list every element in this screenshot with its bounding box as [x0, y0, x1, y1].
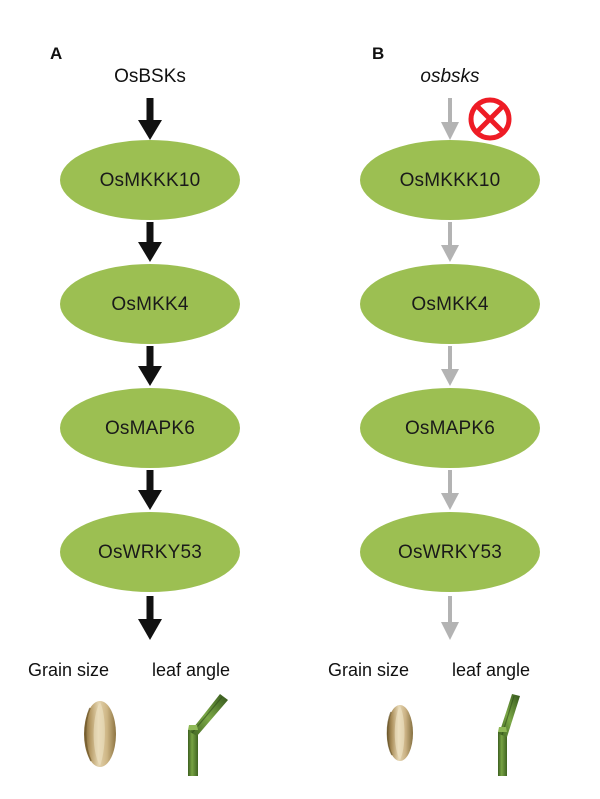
node-label: OsMKK4: [411, 295, 488, 314]
panel-b: B osbsks OsMKKK10 OsMKK4: [300, 0, 600, 799]
node-osmapk6-a: OsMAPK6: [60, 388, 240, 468]
node-osmkkk10-b: OsMKKK10: [360, 140, 540, 220]
node-oswrky53-b: OsWRKY53: [360, 512, 540, 592]
grain-seed-illustration-a: [66, 698, 134, 770]
panel-label-b: B: [372, 44, 384, 64]
arrow-mkkk10-to-mkk4-a: [130, 222, 170, 264]
circle-x-prohibition-icon: [466, 95, 514, 143]
node-label: OsWRKY53: [98, 543, 202, 562]
node-osmapk6-b: OsMAPK6: [360, 388, 540, 468]
pathway-source-label-a: OsBSKs: [0, 66, 300, 88]
arrow-source-to-mkkk10-b: [430, 98, 470, 142]
panel-a: A OsBSKs OsMKKK10 OsMKK4 OsMAPK6: [0, 0, 300, 799]
node-osmkk4-a: OsMKK4: [60, 264, 240, 344]
arrow-mapk6-to-wrky53-a: [130, 470, 170, 512]
grain-seed-illustration-b: [372, 700, 428, 766]
outcome-label-leaf-angle: leaf angle: [152, 660, 230, 681]
arrow-wrky53-to-outcomes-a: [130, 596, 170, 642]
outcome-labels-b: Grain size leaf angle: [300, 660, 600, 686]
node-label: OsMKKK10: [400, 171, 501, 190]
panel-label-a: A: [50, 44, 62, 64]
node-label: OsMAPK6: [105, 419, 195, 438]
outcome-label-grain-size: Grain size: [328, 660, 409, 681]
arrow-mkkk10-to-mkk4-b: [430, 222, 470, 264]
node-label: OsMKK4: [111, 295, 188, 314]
arrow-mapk6-to-wrky53-b: [430, 470, 470, 512]
arrow-wrky53-to-outcomes-b: [430, 596, 470, 642]
node-osmkk4-b: OsMKK4: [360, 264, 540, 344]
outcome-labels-a: Grain size leaf angle: [0, 660, 300, 686]
node-label: OsWRKY53: [398, 543, 502, 562]
leaf-angle-illustration-b: [472, 692, 542, 778]
node-label: OsMKKK10: [100, 171, 201, 190]
pathway-source-label-b: osbsks: [300, 66, 600, 88]
arrow-mkk4-to-mapk6-b: [430, 346, 470, 388]
leaf-angle-illustration-a: [170, 692, 240, 778]
node-osmkkk10-a: OsMKKK10: [60, 140, 240, 220]
signaling-pathway-figure: A OsBSKs OsMKKK10 OsMKK4 OsMAPK6: [0, 0, 600, 799]
arrow-mkk4-to-mapk6-a: [130, 346, 170, 388]
arrow-source-to-mkkk10-a: [130, 98, 170, 142]
node-oswrky53-a: OsWRKY53: [60, 512, 240, 592]
outcome-label-grain-size: Grain size: [28, 660, 109, 681]
node-label: OsMAPK6: [405, 419, 495, 438]
outcome-label-leaf-angle: leaf angle: [452, 660, 530, 681]
